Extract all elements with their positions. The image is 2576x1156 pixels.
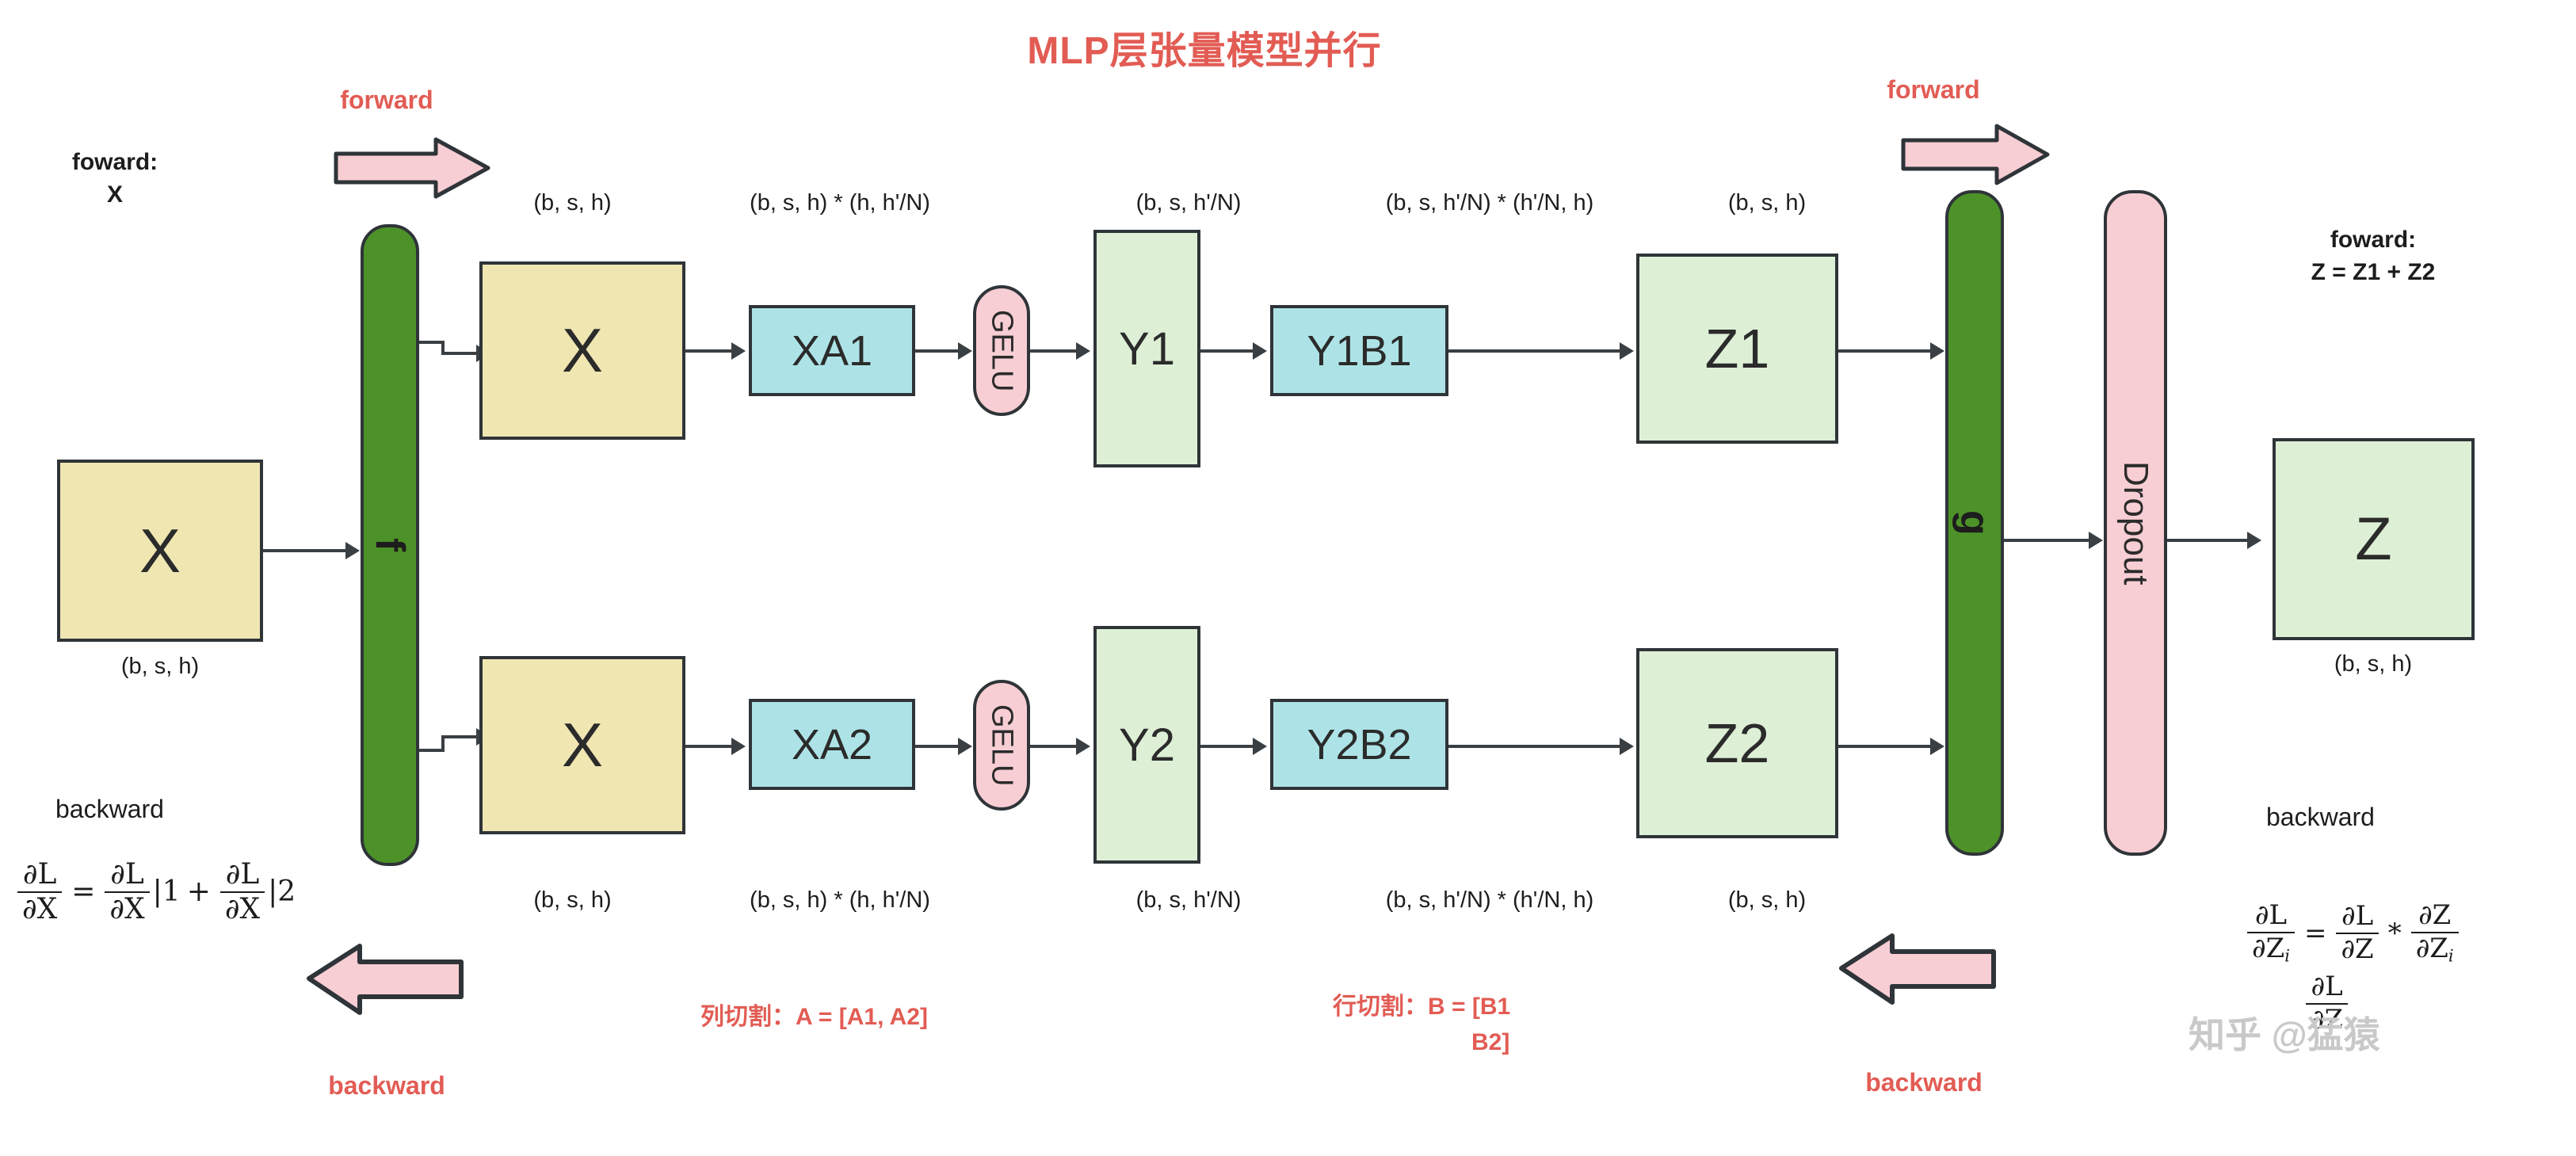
formula-left-term1-num: ∂L bbox=[105, 860, 149, 891]
forward-block-arrow-left bbox=[333, 136, 491, 200]
dim-bottom-3: (b, s, h'/N) bbox=[1066, 887, 1311, 914]
row-split-value-line2: B2] bbox=[1333, 1024, 1510, 1060]
formula-left-term2-suffix: |2 bbox=[268, 876, 296, 908]
connector-g-to-dropout bbox=[2004, 539, 2091, 542]
formula-left-lhs-den: ∂X bbox=[17, 891, 62, 925]
connector-g-to-dropout-arrowhead bbox=[2089, 532, 2103, 549]
backward-label-left: backward bbox=[300, 1071, 474, 1101]
formula-right-lhs-den-sub: i bbox=[2284, 945, 2290, 965]
formula-right-term1: ∂L ∂Z bbox=[2336, 902, 2378, 963]
foward-left-line2: X bbox=[24, 179, 206, 212]
formula-left-lhs-num: ∂L bbox=[18, 860, 62, 891]
dim-bottom-4: (b, s, h'/N) * (h'/N, h) bbox=[1315, 887, 1664, 914]
formula-left-plus: + bbox=[187, 876, 211, 908]
watermark: 知乎 @猛猿 bbox=[2189, 1006, 2380, 1059]
formula-left-term2-den: ∂X bbox=[220, 891, 265, 925]
backward-left-formula: ∂L ∂X = ∂L ∂X |1 + ∂L ∂X |2 bbox=[14, 860, 296, 925]
dim-top-4: (b, s, h'/N) * (h'/N, h) bbox=[1315, 190, 1664, 216]
row2-yb-box: Y2B2 bbox=[1270, 699, 1448, 790]
connector-f-row2-c bbox=[441, 735, 479, 738]
backward-left-heading: backward bbox=[55, 792, 164, 826]
forward-block-arrow-right bbox=[1900, 123, 2051, 186]
foward-right-caption: foward: Z = Z1 + Z2 bbox=[2234, 224, 2512, 288]
row2-connector-x-xa-arrowhead bbox=[731, 738, 746, 755]
input-x-box: X bbox=[57, 460, 263, 642]
row1-yb-box: Y1B1 bbox=[1270, 305, 1448, 396]
row2-connector-xa-gelu bbox=[915, 745, 961, 748]
formula-right-term2: ∂Z ∂Zi bbox=[2411, 902, 2459, 964]
row2-x-box: X bbox=[479, 656, 685, 834]
formula-right-line2-num: ∂L bbox=[2307, 973, 2348, 1003]
formula-right-mul: * bbox=[2388, 918, 2402, 949]
row2-connector-gelu-y bbox=[1030, 745, 1079, 748]
foward-left-caption: foward: X bbox=[24, 147, 206, 211]
row-split-label: 行切割： bbox=[1333, 994, 1428, 1020]
backward-right-formula: ∂L ∂Zi = ∂L ∂Z * ∂Z ∂Zi bbox=[2244, 902, 2462, 964]
formula-right-lhs-den: ∂Zi bbox=[2247, 932, 2295, 964]
row1-x-box: X bbox=[479, 261, 685, 440]
row2-connector-gelu-y-arrowhead bbox=[1076, 738, 1090, 755]
formula-right-term1-num: ∂L bbox=[2337, 902, 2378, 933]
column-split-label: 列切割： bbox=[700, 1004, 796, 1030]
formula-left-term2-num: ∂L bbox=[221, 860, 265, 891]
row1-y-box: Y1 bbox=[1093, 230, 1200, 467]
dim-bottom-1: (b, s, h) bbox=[479, 887, 666, 914]
row2-gelu-label: GELU bbox=[985, 704, 1019, 786]
row2-connector-yb-z-arrowhead bbox=[1620, 738, 1634, 755]
row1-connector-gelu-y bbox=[1030, 349, 1079, 353]
backward-label-right: backward bbox=[1837, 1068, 2011, 1097]
connector-dropout-to-z-arrowhead bbox=[2247, 532, 2261, 549]
f-gate-label: f bbox=[366, 538, 414, 551]
formula-right-term1-den: ∂Z bbox=[2336, 933, 2378, 964]
connector-x-to-f bbox=[263, 549, 347, 552]
row1-connector-xa-gelu bbox=[915, 349, 961, 353]
row2-y-box: Y2 bbox=[1093, 626, 1200, 864]
dim-bottom-2: (b, s, h) * (h, h'/N) bbox=[681, 887, 998, 914]
dim-top-5: (b, s, h) bbox=[1668, 190, 1866, 216]
formula-right-lhs-num: ∂L bbox=[2250, 902, 2292, 932]
row1-connector-z-g bbox=[1838, 349, 1933, 353]
page-title: MLP层张量模型并行 bbox=[927, 19, 1482, 74]
row2-connector-y-yb bbox=[1200, 745, 1256, 748]
connector-dropout-to-z bbox=[2167, 539, 2250, 542]
dim-top-3: (b, s, h'/N) bbox=[1066, 190, 1311, 216]
row1-connector-y-yb-arrowhead bbox=[1253, 342, 1267, 360]
row2-connector-z-g-arrowhead bbox=[1930, 738, 1944, 755]
row1-connector-yb-z bbox=[1448, 349, 1623, 353]
dim-top-1: (b, s, h) bbox=[479, 190, 666, 216]
column-split-note: 列切割：A = [A1, A2] bbox=[700, 997, 928, 1032]
g-gate: g bbox=[1945, 190, 2004, 856]
row1-connector-y-yb bbox=[1200, 349, 1256, 353]
row1-connector-yb-z-arrowhead bbox=[1620, 342, 1634, 360]
g-gate-label: g bbox=[1951, 510, 1998, 536]
backward-block-arrow-left bbox=[306, 941, 464, 1017]
forward-label-right: forward bbox=[1846, 75, 2021, 105]
dropout-label: Dropout bbox=[2116, 461, 2155, 586]
row1-connector-z-g-arrowhead bbox=[1930, 342, 1944, 360]
formula-right-lhs: ∂L ∂Zi bbox=[2247, 902, 2295, 964]
row2-connector-y-yb-arrowhead bbox=[1253, 738, 1267, 755]
dim-top-2: (b, s, h) * (h, h'/N) bbox=[681, 190, 998, 216]
formula-left-term1: ∂L ∂X bbox=[105, 860, 149, 925]
formula-right-term2-den: ∂Zi bbox=[2411, 932, 2459, 964]
row1-connector-xa-gelu-arrowhead bbox=[958, 342, 972, 360]
dropout-block: Dropout bbox=[2104, 190, 2167, 856]
row2-connector-yb-z bbox=[1448, 745, 1623, 748]
dim-bottom-5: (b, s, h) bbox=[1668, 887, 1866, 914]
row-split-value-line1: B = [B1 bbox=[1428, 994, 1510, 1020]
diagram-canvas: MLP层张量模型并行 foward: X forward X (b, s, h)… bbox=[0, 0, 2576, 1156]
row1-z-box: Z1 bbox=[1636, 254, 1838, 444]
row2-connector-x-xa bbox=[685, 745, 735, 748]
formula-left-lhs: ∂L ∂X bbox=[17, 860, 62, 925]
row2-z-box: Z2 bbox=[1636, 648, 1838, 838]
row1-gelu-label: GELU bbox=[985, 310, 1019, 391]
row1-xa-box: XA1 bbox=[749, 305, 915, 396]
column-split-value: A = [A1, A2] bbox=[796, 1004, 928, 1030]
formula-right-eq: = bbox=[2304, 918, 2327, 949]
foward-right-line1: foward: bbox=[2234, 224, 2512, 257]
output-z-box: Z bbox=[2273, 438, 2475, 640]
formula-right-term2-num: ∂Z bbox=[2414, 902, 2456, 932]
connector-f-row1-c bbox=[441, 352, 479, 355]
backward-right-heading: backward bbox=[2266, 800, 2375, 834]
input-x-dim-label: (b, s, h) bbox=[41, 654, 279, 680]
f-gate: f bbox=[361, 224, 419, 866]
row1-connector-x-xa bbox=[685, 349, 735, 353]
row1-connector-gelu-y-arrowhead bbox=[1076, 342, 1090, 360]
row2-gelu: GELU bbox=[973, 680, 1030, 811]
forward-label-left: forward bbox=[300, 86, 474, 115]
formula-left-eq: = bbox=[71, 876, 95, 908]
formula-left-term1-suffix: |1 bbox=[153, 876, 181, 908]
formula-right-term2-den-sub: i bbox=[2448, 945, 2454, 965]
foward-left-line1: foward: bbox=[24, 147, 206, 179]
row2-connector-xa-gelu-arrowhead bbox=[958, 738, 972, 755]
formula-left-term1-den: ∂X bbox=[105, 891, 149, 925]
connector-x-to-f-arrowhead bbox=[345, 542, 360, 559]
row1-connector-x-xa-arrowhead bbox=[731, 342, 746, 360]
formula-right-term2-den-main: ∂Z bbox=[2416, 933, 2448, 964]
formula-left-term2: ∂L ∂X bbox=[220, 860, 265, 925]
row1-gelu: GELU bbox=[973, 285, 1030, 416]
row2-xa-box: XA2 bbox=[749, 699, 915, 790]
output-z-dim-label: (b, s, h) bbox=[2254, 651, 2492, 677]
row2-connector-z-g bbox=[1838, 745, 1933, 748]
row-split-note: 行切割：B = [B1 B2] bbox=[1333, 989, 1510, 1060]
formula-right-lhs-den-main: ∂Z bbox=[2252, 933, 2284, 964]
foward-right-line2: Z = Z1 + Z2 bbox=[2234, 257, 2512, 289]
backward-block-arrow-right bbox=[1838, 931, 1997, 1006]
